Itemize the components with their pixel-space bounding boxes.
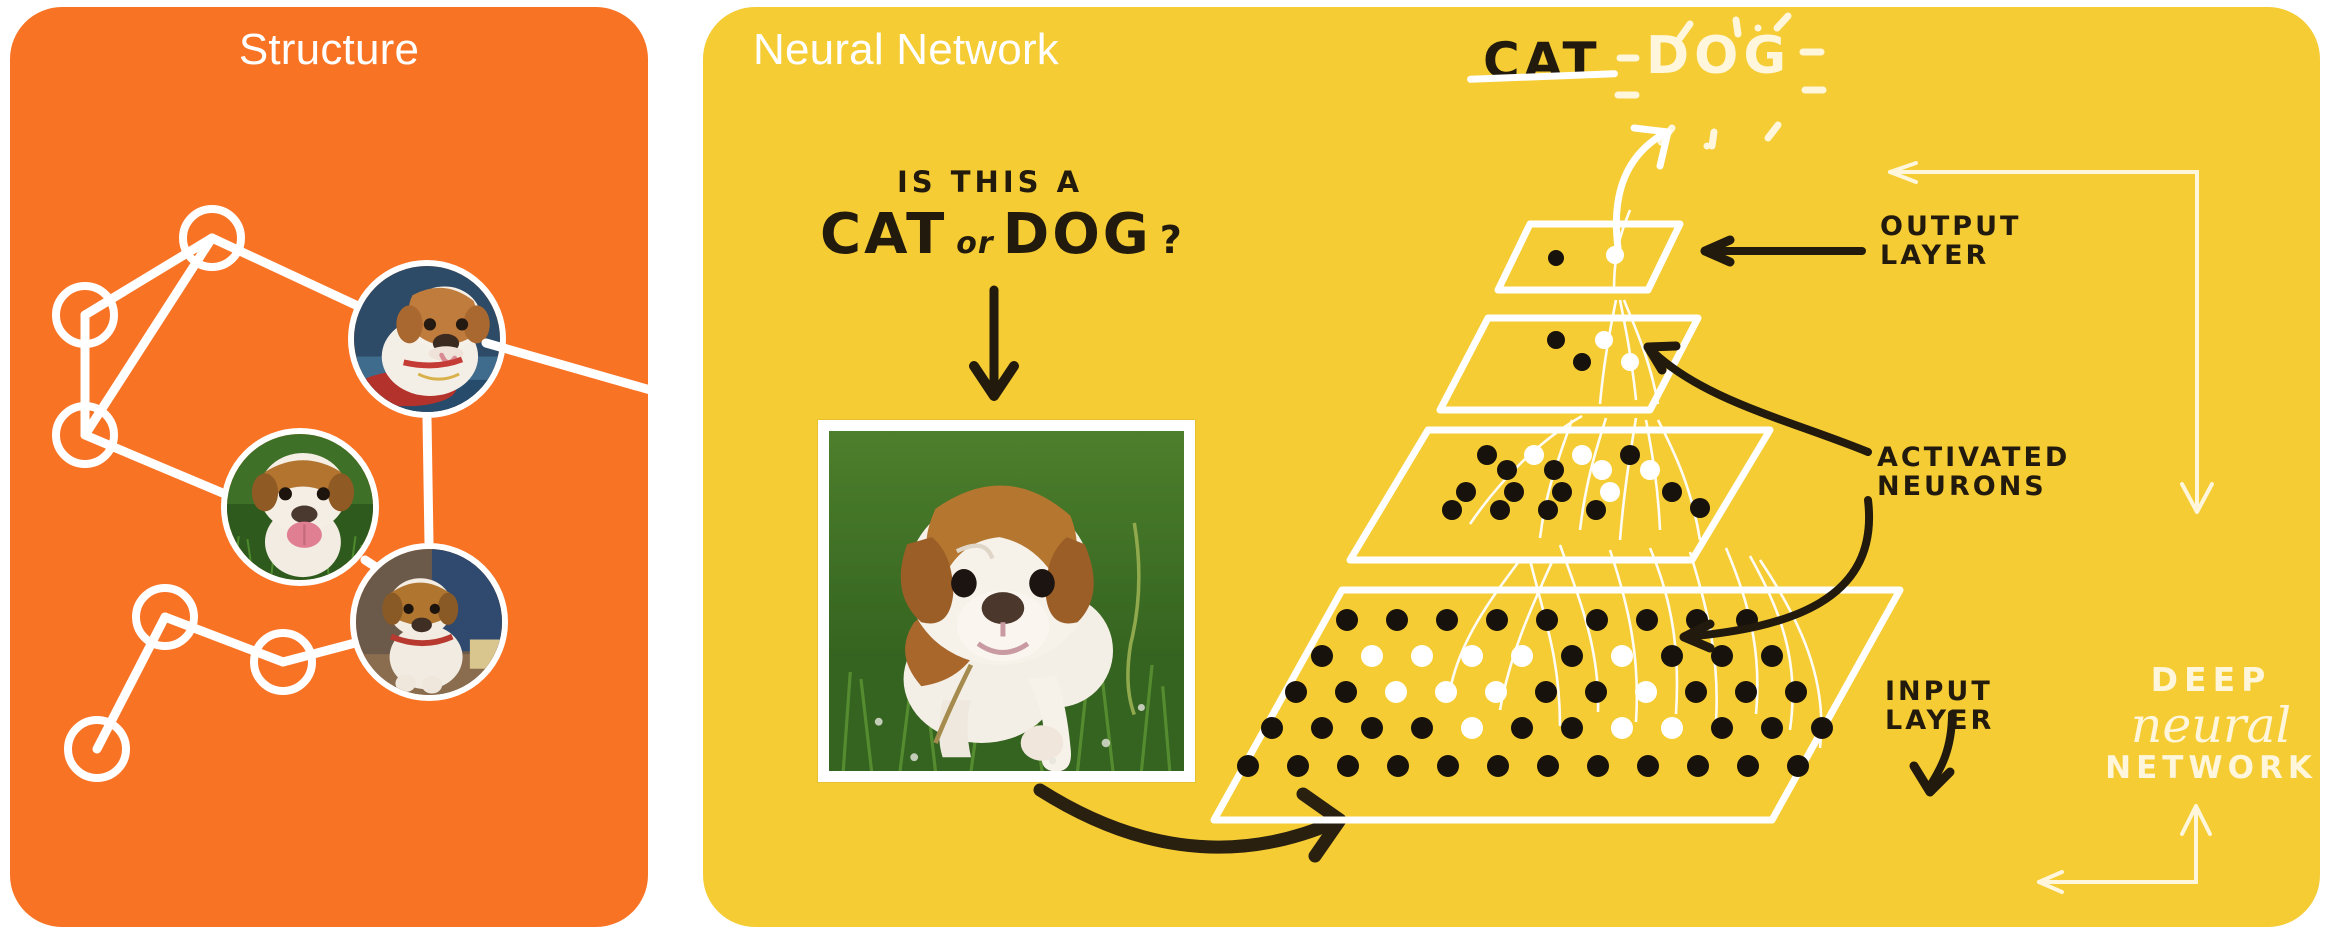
deep-neural-network-caption: DEEP neural NETWORK <box>2096 660 2326 786</box>
bulldog-on-grass-image <box>227 434 373 580</box>
label-output-layer: OUTPUT LAYER <box>1880 212 2021 270</box>
bulldog-lying-down-image <box>354 266 500 412</box>
structure-panel: Structure <box>10 7 648 927</box>
caption-neural: neural <box>2096 697 2326 754</box>
graph-photo-node-top[interactable] <box>348 260 506 418</box>
verdict-dog: DOG <box>1646 28 1791 84</box>
graph-edge <box>212 238 360 307</box>
question-or-word: or <box>947 226 1002 261</box>
bulldog-puppy-walking-image <box>829 431 1184 771</box>
label-input-layer: INPUT LAYER <box>1885 677 1994 735</box>
question-mark: ? <box>1152 218 1182 262</box>
question-line-2: CATorDOG? <box>820 205 1182 265</box>
poster-canvas: Structure <box>0 0 2330 936</box>
graph-photo-node-bottom[interactable] <box>350 543 508 701</box>
question-line-1: IS THIS A <box>897 167 1083 198</box>
question-cat-word: CAT <box>820 202 947 267</box>
graph-edge <box>85 238 212 315</box>
panel-title-neural-network: Neural Network <box>753 25 1059 75</box>
label-activated-neurons: ACTIVATED NEURONS <box>1877 443 2070 501</box>
input-photo[interactable] <box>818 420 1195 782</box>
graph-edge <box>427 418 429 543</box>
caption-network: NETWORK <box>2096 750 2326 786</box>
bulldog-puppy-sitting-image <box>356 549 502 695</box>
question-dog-word: DOG <box>1003 202 1152 267</box>
caption-deep: DEEP <box>2096 660 2326 699</box>
graph-edge <box>85 435 225 494</box>
graph-edge <box>283 643 355 662</box>
graph-edge <box>97 617 165 749</box>
